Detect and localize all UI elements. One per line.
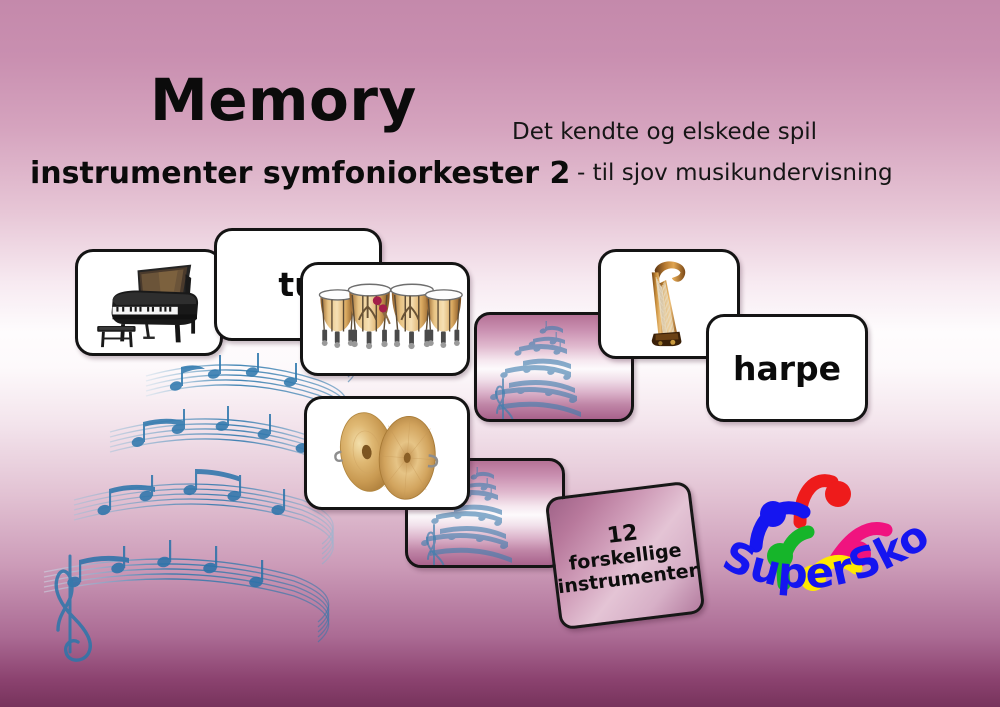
memory-card-piano[interactable] xyxy=(75,249,223,356)
timpani-icon xyxy=(303,262,467,376)
grand-piano-icon xyxy=(78,249,220,356)
page-title: Memory xyxy=(150,66,417,134)
cymbals-icon xyxy=(307,396,467,510)
instrument-count-card[interactable]: 12 forskellige instrumenter xyxy=(544,481,705,631)
memory-card-word-label: harpe xyxy=(733,349,841,388)
memory-card-timpani[interactable] xyxy=(300,262,470,376)
memory-card-cymbals[interactable] xyxy=(304,396,470,510)
logo-wordmark: SuperSkole xyxy=(708,452,937,598)
memory-card-word-harpe[interactable]: harpe xyxy=(706,314,868,422)
poster-canvas: Memory instrumenter symfoniorkester 2 De… xyxy=(0,0,1000,707)
tagline-line-2: - til sjov musikundervisning xyxy=(577,160,893,186)
treble-clef-icon xyxy=(56,556,90,660)
page-subtitle: instrumenter symfoniorkester 2 xyxy=(30,156,570,191)
tagline-line-1: Det kendte og elskede spil xyxy=(512,119,817,145)
superskole-logo[interactable]: SuperSkole xyxy=(708,452,938,612)
